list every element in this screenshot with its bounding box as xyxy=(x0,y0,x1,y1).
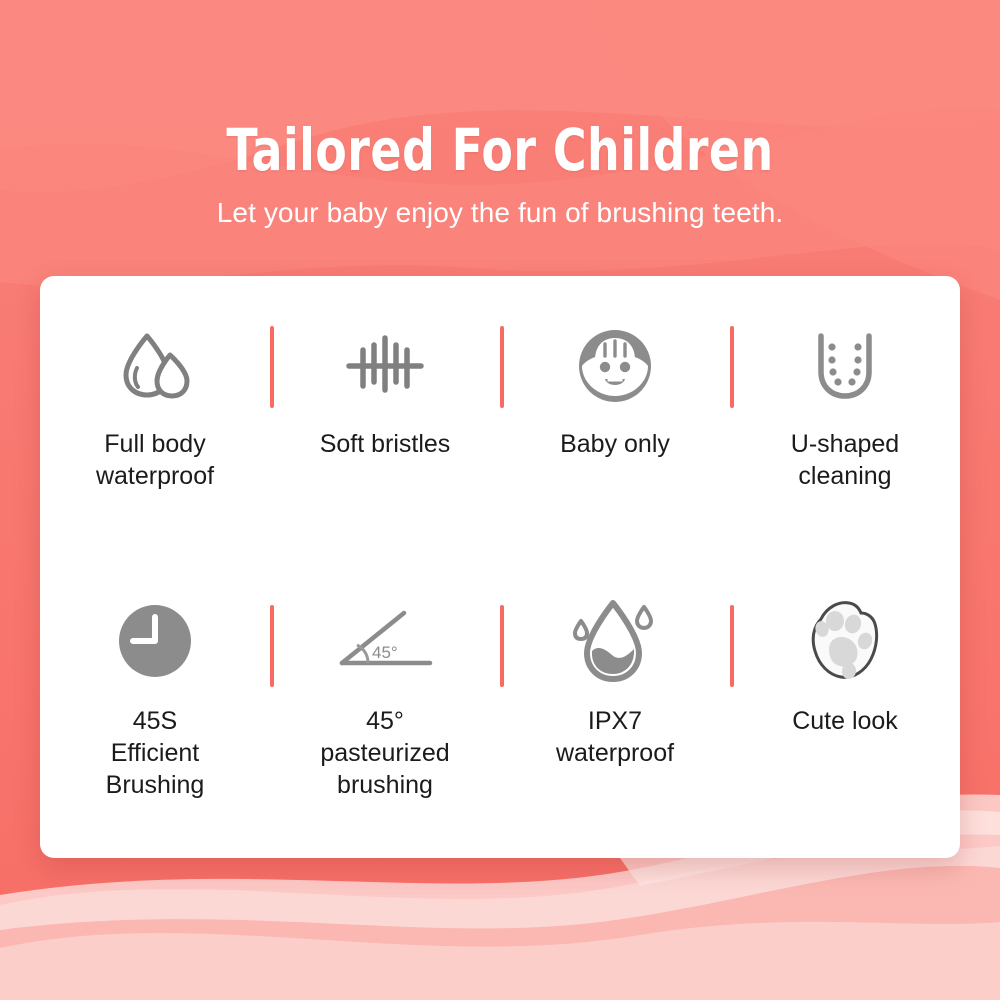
divider-4 xyxy=(270,605,274,687)
feature-item-u-shaped-cleaning[interactable]: U-shaped cleaning xyxy=(730,276,960,567)
divider-6 xyxy=(730,605,734,687)
feature-item-45s-efficient-brushing[interactable]: 45S Efficient Brushing xyxy=(40,567,270,858)
divider-5 xyxy=(500,605,504,687)
divider-1 xyxy=(270,326,274,408)
infographic-banner: Tailored For Children Let your baby enjo… xyxy=(0,0,1000,1000)
feature-label: Baby only xyxy=(560,428,670,460)
feature-row-2: 45S Efficient Brushing 45° 45° pasteuriz… xyxy=(40,567,960,858)
u-shape-brush-head-icon xyxy=(799,318,891,414)
clock-icon xyxy=(109,593,201,689)
angle-label: 45° xyxy=(372,643,398,662)
soft-bristles-icon xyxy=(339,318,431,414)
feature-label: 45S Efficient Brushing xyxy=(106,705,205,801)
divider-2 xyxy=(500,326,504,408)
feature-label: IPX7 waterproof xyxy=(556,705,674,769)
feature-item-ipx7-waterproof[interactable]: IPX7 waterproof xyxy=(500,567,730,858)
feature-item-baby-only[interactable]: Baby only xyxy=(500,276,730,567)
page-subtitle: Let your baby enjoy the fun of brushing … xyxy=(0,196,1000,230)
paw-print-icon xyxy=(795,593,895,689)
feature-item-cute-look[interactable]: Cute look xyxy=(730,567,960,858)
feature-label: Cute look xyxy=(792,705,898,737)
feature-row-1: Full body waterproof xyxy=(40,276,960,567)
feature-label: Soft bristles xyxy=(320,428,451,460)
droplet-wave-icon xyxy=(565,593,665,689)
divider-3 xyxy=(730,326,734,408)
feature-item-soft-bristles[interactable]: Soft bristles xyxy=(270,276,500,567)
feature-label: U-shaped cleaning xyxy=(791,428,899,492)
angle-45-degree-icon: 45° xyxy=(330,593,440,689)
feature-item-full-body-waterproof[interactable]: Full body waterproof xyxy=(40,276,270,567)
water-droplets-icon xyxy=(109,318,201,414)
feature-label: Full body waterproof xyxy=(96,428,214,492)
feature-label: 45° pasteurized brushing xyxy=(320,705,449,801)
feature-card: Full body waterproof xyxy=(40,276,960,858)
feature-item-45-degree-pasteurized-brushing[interactable]: 45° 45° pasteurized brushing xyxy=(270,567,500,858)
header: Tailored For Children Let your baby enjo… xyxy=(0,118,1000,230)
page-title: Tailored For Children xyxy=(60,118,940,182)
baby-face-icon xyxy=(569,318,661,414)
